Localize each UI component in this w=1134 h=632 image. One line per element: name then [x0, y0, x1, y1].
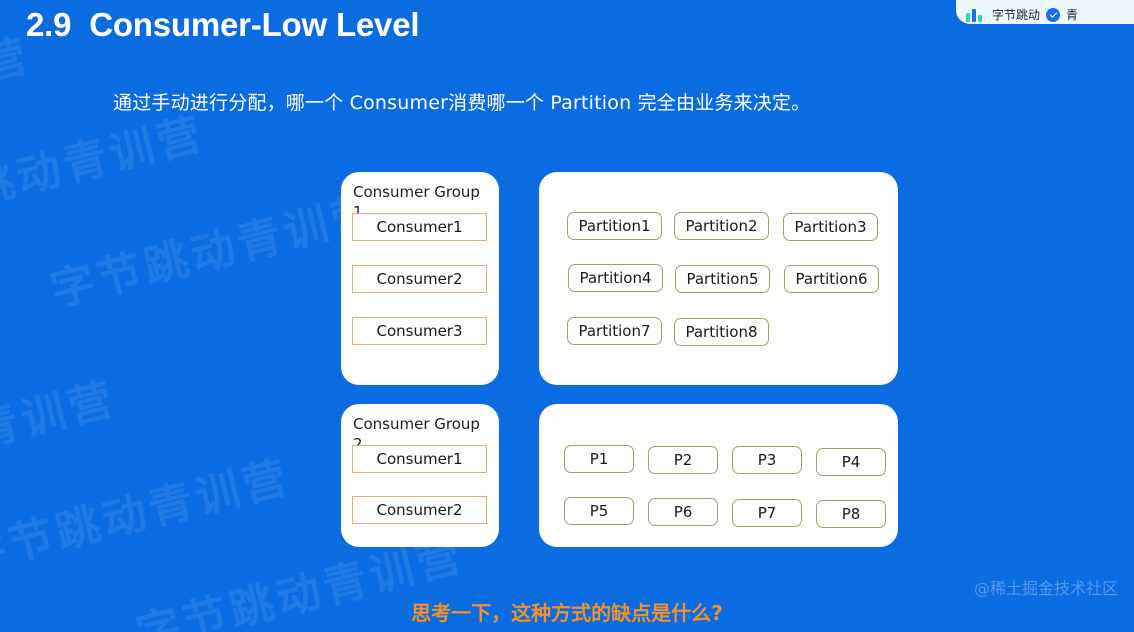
verified-check-icon	[1046, 8, 1060, 22]
bytedance-brand-chip[interactable]: 字节跳动 青	[956, 0, 1134, 24]
consumer-group-1-card: Consumer Group 1 Consumer1 Consumer2 Con…	[341, 172, 499, 385]
partition-box: P6	[648, 498, 718, 526]
partition-box: Partition2	[674, 212, 769, 240]
site-watermark: @稀土掘金技术社区	[974, 575, 1118, 599]
diagram: Consumer Group 1 Consumer1 Consumer2 Con…	[0, 0, 1134, 632]
partition-box: P3	[732, 446, 802, 474]
partition-box: Partition3	[783, 213, 878, 241]
partition-box: P7	[732, 499, 802, 527]
partition-box: Partition8	[674, 318, 769, 346]
partition-box: Partition5	[675, 265, 770, 293]
consumer-box: Consumer1	[352, 213, 487, 241]
slide-root: 字节跳动青训营 字节跳动青训营 字节跳动青训营 字节跳动青训营 字节跳动青训营 …	[0, 0, 1134, 632]
partition-box: P8	[816, 500, 886, 528]
partition-box: P4	[816, 448, 886, 476]
consumer-box: Consumer2	[352, 265, 487, 293]
consumer-box: Consumer3	[352, 317, 487, 345]
bytedance-logo-icon	[966, 8, 986, 22]
partition-set-1-card: Partition1 Partition2 Partition3 Partiti…	[539, 172, 898, 385]
consumer-box: Consumer2	[352, 496, 487, 524]
chip-secondary-label: 青	[1066, 9, 1078, 22]
partition-box: Partition7	[567, 317, 662, 345]
partition-box: Partition6	[784, 265, 879, 293]
consumer-box: Consumer1	[352, 445, 487, 473]
partition-box: Partition4	[568, 264, 663, 292]
partition-box: P5	[564, 497, 634, 525]
consumer-group-2-card: Consumer Group 2 Consumer1 Consumer2	[341, 404, 499, 547]
partition-box: P2	[648, 446, 718, 474]
chip-brand-label: 字节跳动	[992, 9, 1040, 22]
partition-box: P1	[564, 445, 634, 473]
partition-set-2-card: P1 P2 P3 P4 P5 P6 P7 P8	[539, 404, 898, 547]
partition-box: Partition1	[567, 212, 662, 240]
footer-question: 思考一下，这种方式的缺点是什么?	[0, 597, 1134, 626]
